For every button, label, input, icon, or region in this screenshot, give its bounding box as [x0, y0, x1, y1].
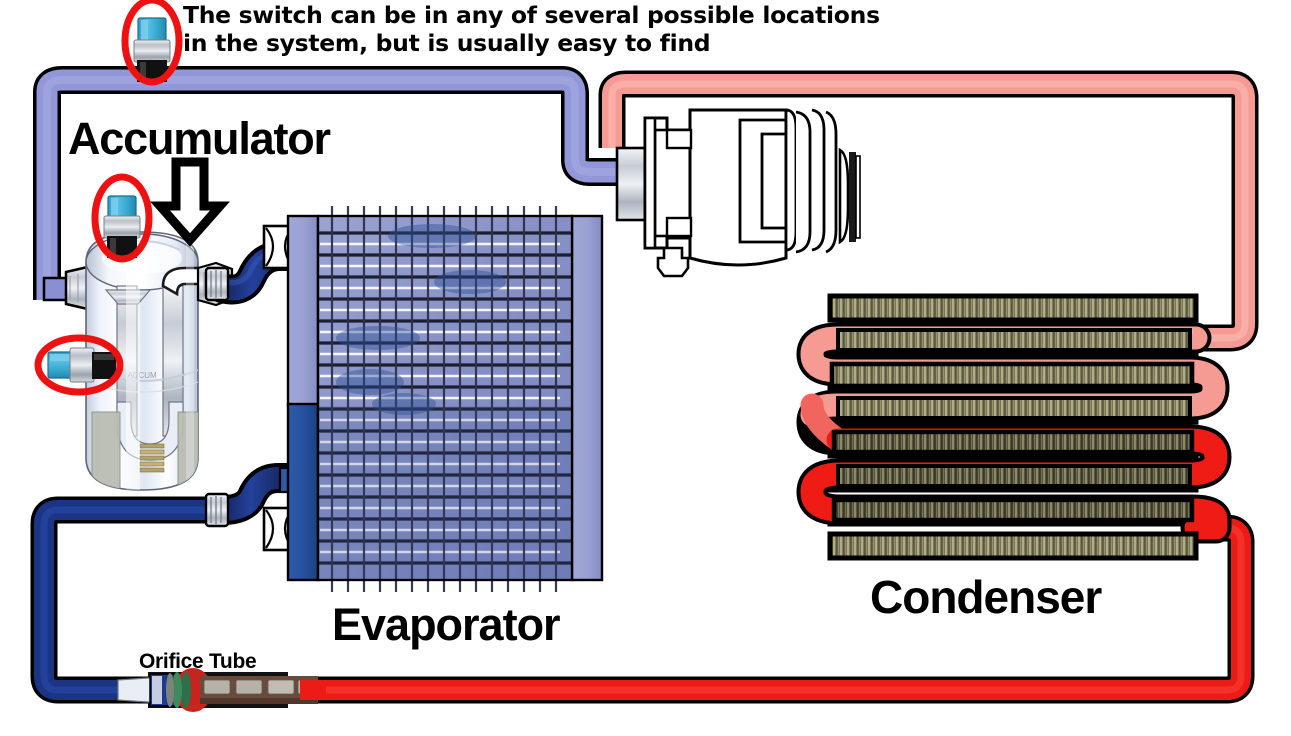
evaporator-header-right	[572, 216, 602, 580]
label-evaporator: Evaporator	[332, 598, 560, 651]
evaporator-header-left-bottom	[288, 404, 318, 580]
pressure-switch-accumulator-top	[104, 196, 140, 258]
accumulator-pointer-arrow	[160, 162, 220, 240]
hose-crimp-collar	[206, 494, 228, 526]
label-accumulator: Accumulator	[68, 112, 330, 165]
label-condenser: Condenser	[870, 570, 1101, 624]
switch-location-caption: The switch can be in any of several poss…	[183, 2, 880, 57]
label-orifice-tube: Orifice Tube	[139, 650, 256, 675]
compressor	[617, 110, 860, 276]
hose-crimp-collar-upper	[206, 268, 228, 300]
evaporator-header-left-top	[288, 216, 318, 406]
caption-line-1: The switch can be in any of several poss…	[183, 1, 880, 29]
pressure-switch-accumulator-side	[48, 348, 116, 382]
compressor-pulley	[786, 110, 860, 252]
diagram-graphics: ACCUM	[0, 0, 1291, 736]
evaporator	[264, 206, 602, 592]
pressure-switch-top	[134, 18, 170, 82]
condenser	[812, 296, 1216, 558]
diagram-canvas: ACCUM	[0, 0, 1291, 736]
caption-line-2: in the system, but is usually easy to fi…	[183, 29, 710, 57]
